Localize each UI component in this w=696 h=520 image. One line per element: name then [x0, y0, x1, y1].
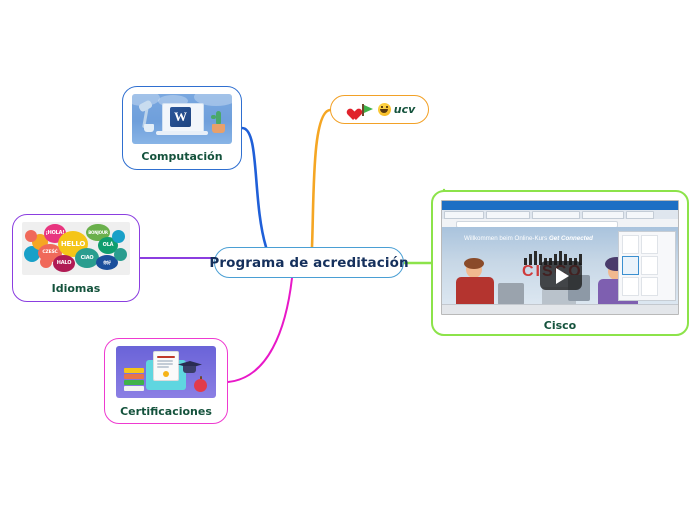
- laptop-base: [156, 131, 208, 135]
- heart-emoji-icon: [344, 103, 358, 116]
- certificate-seal-icon: [163, 371, 169, 377]
- browser-tab[interactable]: [532, 211, 580, 219]
- play-button[interactable]: [540, 261, 582, 290]
- branch-node-computacion[interactable]: W Computación: [122, 86, 242, 170]
- idiomas-thumbnail: CZEŚĆ ¡HOLA! HELLO HALO CIAO BONJOUR OLÁ…: [22, 222, 130, 275]
- ucv-label: ucv: [394, 103, 416, 116]
- person-hair: [464, 258, 484, 269]
- cisco-video-thumbnail[interactable]: Willkommen beim Online-Kurs Get Connecte…: [441, 200, 679, 315]
- cisco-label: Cisco: [544, 320, 576, 331]
- speech-bubble-ciao: CIAO: [75, 248, 99, 268]
- panel-icon-cell-selected[interactable]: [622, 256, 639, 275]
- browser-tab[interactable]: [582, 211, 624, 219]
- central-node[interactable]: Programa de acreditación: [214, 247, 404, 278]
- book-icon: [124, 374, 144, 379]
- browser-tab[interactable]: [486, 211, 530, 219]
- connector-certificaciones: [228, 278, 292, 382]
- os-taskbar: [442, 304, 678, 314]
- panel-icon-cell[interactable]: [622, 235, 639, 254]
- certificate-title-line: [157, 356, 175, 358]
- certificate-line: [157, 366, 169, 368]
- coffee-mug-icon: [144, 124, 154, 132]
- green-flag-emoji-icon: [361, 103, 375, 116]
- settings-side-panel[interactable]: [618, 231, 676, 301]
- branch-node-idiomas[interactable]: CZEŚĆ ¡HOLA! HELLO HALO CIAO BONJOUR OLÁ…: [12, 214, 140, 302]
- word-logo-icon: W: [170, 107, 191, 127]
- certificaciones-label: Certificaciones: [120, 406, 212, 417]
- browser-tab[interactable]: [444, 211, 484, 219]
- side-panel-icon-grid: [619, 232, 675, 299]
- certificaciones-thumbnail: [116, 346, 216, 398]
- speech-bubble: [114, 248, 127, 261]
- panel-icon-cell[interactable]: [641, 256, 658, 275]
- speech-bubble: [40, 256, 52, 268]
- branch-node-ucv[interactable]: ucv: [330, 95, 429, 124]
- connector-computacion: [242, 128, 266, 247]
- idiomas-label: Idiomas: [52, 283, 101, 294]
- certificate-line: [157, 360, 173, 362]
- central-node-label: Programa de acreditación: [209, 255, 408, 271]
- book-icon: [124, 380, 144, 385]
- book-icon: [124, 368, 144, 373]
- router-device-left: [498, 283, 524, 305]
- video-headline: Willkommen beim Online-Kurs Get Connecte…: [464, 235, 593, 242]
- graduation-cap-base: [183, 366, 196, 373]
- video-headline-prefix: Willkommen beim Online-Kurs: [464, 235, 549, 242]
- computacion-label: Computación: [141, 151, 222, 162]
- person-torso: [456, 277, 494, 305]
- branch-node-cisco[interactable]: Willkommen beim Online-Kurs Get Connecte…: [431, 190, 689, 336]
- computacion-thumbnail: W: [132, 94, 232, 144]
- browser-title-bar: [442, 201, 678, 210]
- video-headline-emphasis: Get Connected: [549, 235, 593, 242]
- grinning-face-emoji-icon: [378, 103, 391, 116]
- cactus-body-icon: [216, 111, 221, 125]
- panel-icon-cell[interactable]: [641, 277, 658, 296]
- video-stage: Willkommen beim Online-Kurs Get Connecte…: [442, 227, 678, 305]
- mindmap-canvas: Programa de acreditación W Computación u…: [0, 0, 696, 520]
- speech-bubble: [112, 230, 125, 243]
- branch-node-certificaciones[interactable]: Certificaciones: [104, 338, 228, 424]
- panel-icon-cell[interactable]: [641, 235, 658, 254]
- speech-bubble-halo: HALO: [53, 255, 75, 272]
- book-icon: [124, 386, 144, 391]
- browser-tab[interactable]: [626, 211, 654, 219]
- play-triangle-icon: [556, 268, 569, 284]
- panel-icon-cell[interactable]: [622, 277, 639, 296]
- cactus-pot-icon: [212, 124, 225, 133]
- certificate-line: [157, 363, 173, 365]
- speech-bubble: [25, 230, 37, 242]
- browser-tab-strip: [442, 210, 679, 219]
- connector-ucv: [312, 110, 330, 247]
- apple-icon: [194, 379, 207, 392]
- certificate-paper: [154, 352, 178, 380]
